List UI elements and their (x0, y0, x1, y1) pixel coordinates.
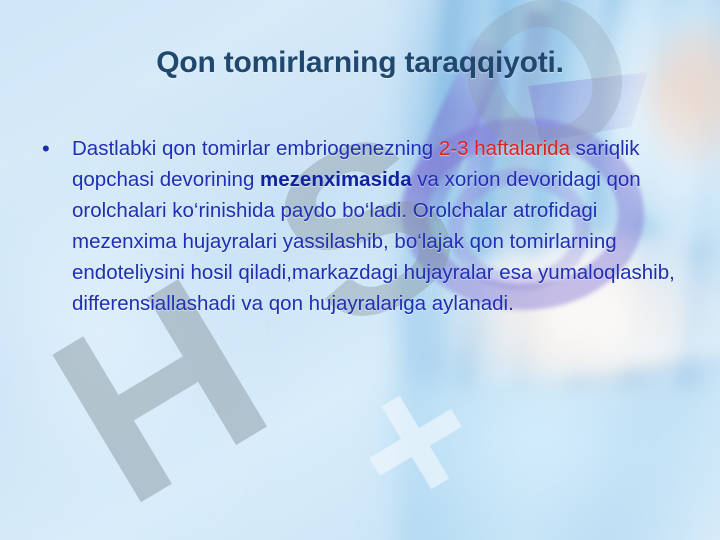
bullet-marker-icon: • (36, 133, 72, 164)
body-text-highlight-red: 2-3 haftalarida (439, 137, 570, 160)
bullet-item-paragraph: Dastlabki qon tomirlar embriogenezning 2… (72, 133, 684, 319)
body-text-highlight-bold: mezenximasida (260, 168, 412, 191)
bullet-list: • Dastlabki qon tomirlar embriogenezning… (36, 133, 684, 319)
body-text-part-1: Dastlabki qon tomirlar embriogenezning (72, 137, 439, 160)
presentation-slide: O S + H Qon tomirlarning taraqqiyoti. • … (0, 0, 720, 540)
slide-content: Qon tomirlarning taraqqiyoti. • Dastlabk… (0, 0, 720, 540)
slide-title: Qon tomirlarning taraqqiyoti. (40, 46, 680, 81)
